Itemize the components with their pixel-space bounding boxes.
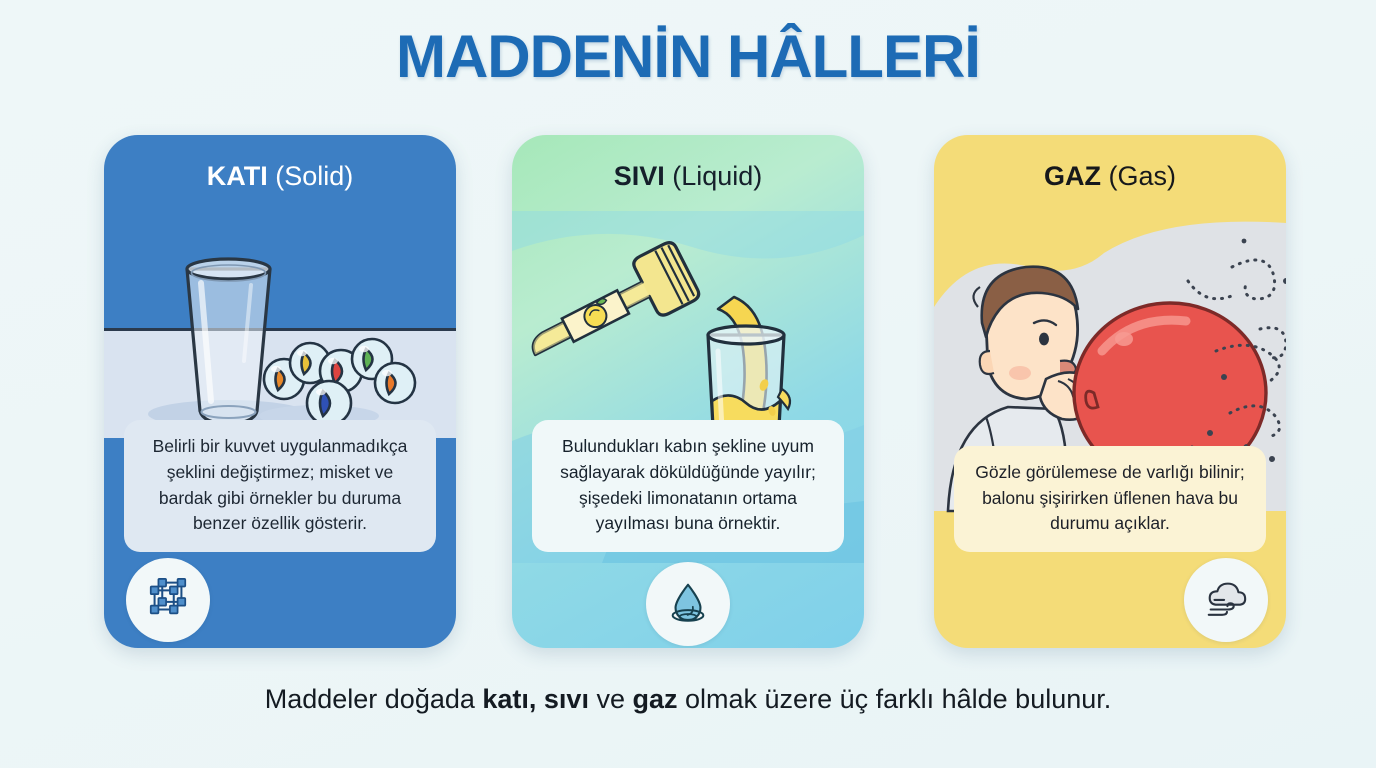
card-title-gas-paren: (Gas) <box>1109 161 1177 191</box>
card-title-liquid: SIVI (Liquid) <box>512 161 864 192</box>
page-title: MADDENİN HÂLLERİ <box>0 22 1376 91</box>
caption-part-1: Maddeler doğada <box>265 684 483 714</box>
card-title-liquid-bold: SIVI <box>614 161 665 191</box>
badge-liquid <box>646 562 730 646</box>
card-description-liquid: Bulundukları kabın şekline uyum sağlayar… <box>532 420 844 552</box>
caption-part-2: ve <box>589 684 633 714</box>
card-title-gas-bold: GAZ <box>1044 161 1101 191</box>
caption-part-3: olmak üzere üç farklı hâlde bulunur. <box>678 684 1112 714</box>
caption-bold-1: katı, sıvı <box>482 684 589 714</box>
card-title-liquid-paren: (Liquid) <box>672 161 762 191</box>
card-title-solid: KATI (Solid) <box>104 161 456 192</box>
state-card-liquid: SIVI (Liquid) <box>512 135 864 648</box>
water-drop-icon <box>665 579 711 630</box>
state-card-solid: KATI (Solid) <box>104 135 456 648</box>
card-title-solid-bold: KATI <box>207 161 268 191</box>
caption-bold-2: gaz <box>633 684 678 714</box>
card-description-solid: Belirli bir kuvvet uygulanmadıkça şeklin… <box>124 420 436 552</box>
crystal-lattice-icon <box>145 575 191 626</box>
footer-caption: Maddeler doğada katı, sıvı ve gaz olmak … <box>0 684 1376 715</box>
state-card-gas: GAZ (Gas) <box>934 135 1286 648</box>
badge-solid <box>126 558 210 642</box>
badge-gas <box>1184 558 1268 642</box>
cloud-wind-icon <box>1203 575 1249 626</box>
card-title-solid-paren: (Solid) <box>275 161 353 191</box>
card-description-gas: Gözle görülemese de varlığı bilinir; bal… <box>954 446 1266 552</box>
card-title-gas: GAZ (Gas) <box>934 161 1286 192</box>
